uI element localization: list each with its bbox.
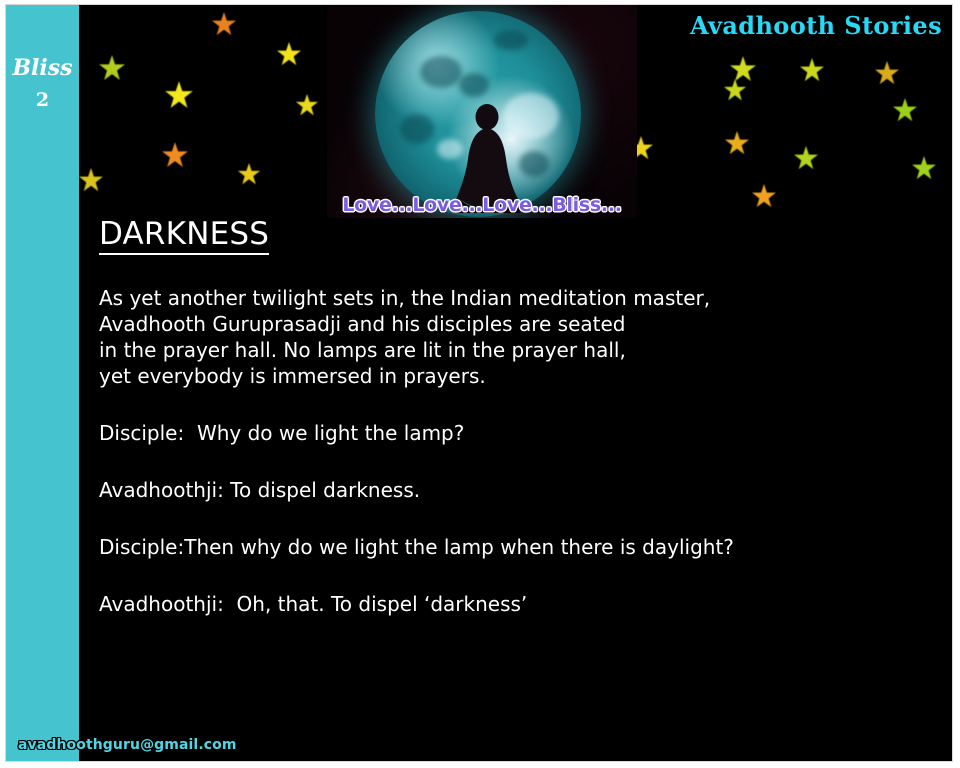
dialogue-line-1: Disciple: Why do we light the lamp?	[99, 420, 939, 446]
sidebar-number: 2	[6, 89, 79, 111]
star-icon	[237, 162, 261, 186]
star-icon	[729, 55, 757, 83]
star-icon	[211, 11, 237, 37]
page-title: DARKNESS	[99, 219, 269, 255]
star-icon	[874, 60, 900, 86]
star-icon	[723, 78, 747, 102]
star-icon	[78, 167, 104, 193]
intro-paragraph: As yet another twilight sets in, the Ind…	[99, 285, 939, 389]
dialogue-line-4: Avadhoothji: Oh, that. To dispel ‘darkne…	[99, 591, 939, 617]
star-icon	[164, 80, 194, 110]
page-header-title: Avadhooth Stories	[690, 11, 942, 40]
star-icon	[911, 155, 937, 181]
photo-caption: Love...Love...Love...Bliss...	[327, 194, 637, 216]
star-icon	[98, 54, 126, 82]
star-icon	[751, 183, 777, 209]
presentation-slide: Love...Love...Love...Bliss... Avadhooth …	[5, 4, 953, 762]
star-icon	[892, 97, 918, 123]
slide-content: DARKNESS As yet another twilight sets in…	[99, 219, 939, 617]
star-icon	[724, 130, 750, 156]
star-icon	[799, 57, 825, 83]
star-icon	[161, 141, 189, 169]
star-icon	[793, 145, 819, 171]
sidebar-title: Bliss	[6, 57, 79, 80]
dialogue-line-2: Avadhoothji: To dispel darkness.	[99, 477, 939, 503]
dialogue-line-3: Disciple:Then why do we light the lamp w…	[99, 534, 939, 560]
sidebar: Bliss 2	[6, 5, 79, 762]
footer-email: avadhoothguru@gmail.com	[18, 737, 237, 753]
page-title-wrapper: DARKNESS	[99, 219, 939, 255]
moon-photo: Love...Love...Love...Bliss...	[327, 5, 637, 218]
star-icon	[276, 41, 302, 67]
star-icon	[295, 93, 319, 117]
